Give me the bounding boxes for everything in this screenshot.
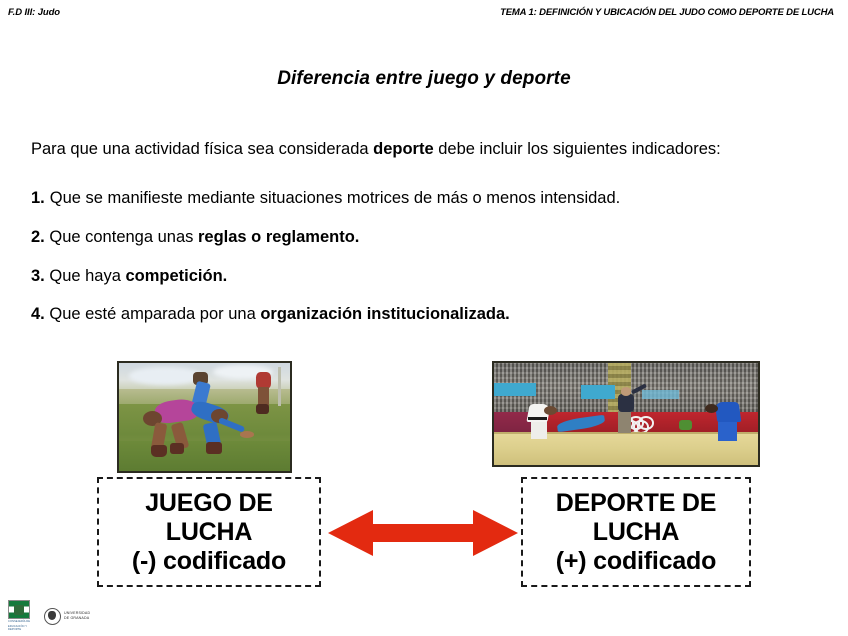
box-line-3: (+) codificado xyxy=(523,547,749,576)
list-item-text: Que se manifieste mediante situaciones m… xyxy=(50,189,620,207)
green-official xyxy=(679,420,692,430)
andalucia-crest-icon xyxy=(14,605,24,615)
referee-head xyxy=(621,387,632,395)
box-line-1: JUEGO DE xyxy=(99,489,319,518)
junta-logo-line-1: CONSEJERÍA DE xyxy=(8,620,34,624)
blue-banner-right xyxy=(642,390,679,399)
intro-text-bold: deporte xyxy=(373,140,434,158)
blue-judoka-body xyxy=(714,402,741,422)
double-headed-arrow-icon xyxy=(328,508,518,558)
grass-foreground xyxy=(119,441,290,471)
list-item: 2. Que contenga unas reglas o reglamento… xyxy=(31,229,821,246)
list-item: 4. Que esté amparada por una organizació… xyxy=(31,306,821,323)
blue-judoka-legs xyxy=(718,419,736,440)
blue-banner-middle xyxy=(581,385,615,398)
intro-text-after: debe incluir los siguientes indicadores: xyxy=(434,140,721,158)
blue-wrestler-boot xyxy=(206,442,221,454)
header-topic-label: TEMA 1: DEFINICIÓN Y UBICACIÓN DEL JUDO … xyxy=(500,7,834,18)
list-item-number: 4. xyxy=(31,305,45,323)
slide-header: F.D III: Judo TEMA 1: DEFINICIÓN Y UBICA… xyxy=(0,0,848,28)
junta-de-andalucia-logo: CONSEJERÍA DE EDUCACIÓN Y DEPORTE xyxy=(8,600,34,630)
indicators-list: 1.Que se manifieste mediante situaciones… xyxy=(31,190,821,345)
photo-content xyxy=(119,363,290,471)
list-item: 3. Que haya competición. xyxy=(31,268,821,285)
blue-wrestler-hand xyxy=(240,431,254,437)
junta-logo-line-2: EDUCACIÓN Y DEPORTE xyxy=(8,625,34,632)
referee-body xyxy=(618,394,634,412)
list-item-text: Que haya xyxy=(49,267,125,285)
photo-content xyxy=(494,363,758,465)
olympic-judo-photo xyxy=(492,361,760,467)
juego-de-lucha-box: JUEGO DE LUCHA (-) codificado xyxy=(97,477,321,587)
pink-wrestler-boot-left xyxy=(151,445,166,457)
mongolian-wrestling-photo xyxy=(117,361,292,473)
list-item-number: 2. xyxy=(31,228,45,246)
list-item-number: 3. xyxy=(31,267,45,285)
list-item-bold: competición. xyxy=(126,267,228,285)
intro-paragraph: Para que una actividad física sea consid… xyxy=(31,140,721,159)
cloud xyxy=(129,367,201,384)
box-line-3: (-) codificado xyxy=(99,547,319,576)
list-item: 1.Que se manifieste mediante situaciones… xyxy=(31,190,821,207)
ugr-logo-text: UNIVERSIDAD DE GRANADA xyxy=(64,611,90,622)
header-course-label: F.D III: Judo xyxy=(8,7,60,18)
list-item-bold: organización institucionalizada. xyxy=(260,305,509,323)
deporte-de-lucha-box: DEPORTE DE LUCHA (+) codificado xyxy=(521,477,751,587)
list-item-number: 1. xyxy=(31,189,50,207)
white-judoka-legs xyxy=(531,419,547,439)
box-line-2: LUCHA xyxy=(523,518,749,547)
ugr-seal-icon xyxy=(44,608,61,625)
box-line-1: DEPORTE DE xyxy=(523,489,749,518)
white-judoka-belt xyxy=(528,417,546,420)
list-item-text: Que contenga unas xyxy=(49,228,198,246)
ugr-logo-line-2: DE GRANADA xyxy=(64,616,90,621)
list-item-bold: reglas o reglamento. xyxy=(198,228,359,246)
pink-wrestler-boot-right xyxy=(170,443,184,454)
andalucia-flag-icon xyxy=(8,600,30,619)
box-line-2: LUCHA xyxy=(99,518,319,547)
pole xyxy=(278,367,281,406)
slide-footer: CONSEJERÍA DE EDUCACIÓN Y DEPORTE UNIVER… xyxy=(0,594,848,636)
blue-banner-left xyxy=(494,383,536,395)
list-item-text: Que esté amparada por una xyxy=(49,305,260,323)
background-wrestler-boot xyxy=(256,404,270,414)
referee-legs xyxy=(618,411,631,433)
universidad-de-granada-logo: UNIVERSIDAD DE GRANADA xyxy=(44,607,110,625)
slide-title: Diferencia entre juego y deporte xyxy=(0,68,848,90)
intro-text-before: Para que una actividad física sea consid… xyxy=(31,140,373,158)
